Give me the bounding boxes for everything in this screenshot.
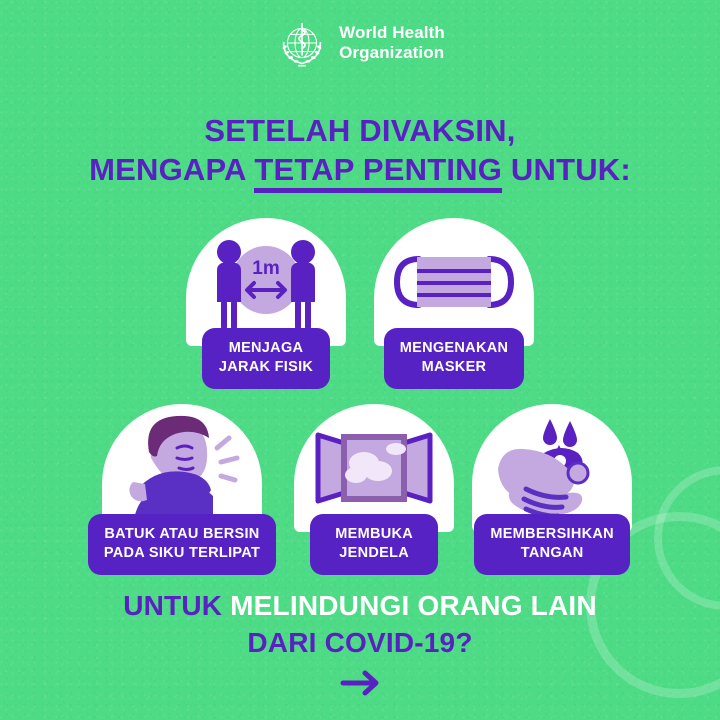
card-label: MENGENAKAN MASKER xyxy=(384,328,525,389)
footer-line-1: UNTUK MELINDUNGI ORANG LAIN xyxy=(0,588,720,625)
icon-dome xyxy=(102,404,262,532)
headline-line-2-after: UNTUK: xyxy=(502,152,631,187)
footer-line-1-white: MELINDUNGI ORANG LAIN xyxy=(230,590,597,621)
headline-line-2: MENGAPA TETAP PENTING UNTUK: xyxy=(0,151,720,190)
icon-dome xyxy=(472,404,632,532)
headline-line-1: SETELAH DIVAKSIN, xyxy=(0,112,720,151)
card-physical-distancing[interactable]: 1m MENJAGA JARAK FISIK xyxy=(186,218,346,389)
open-window-icon xyxy=(304,413,444,523)
headline-line-2-before: MENGAPA xyxy=(89,152,254,187)
headline-underlined-phrase: TETAP PENTING xyxy=(254,152,502,193)
icon-dome xyxy=(294,404,454,532)
card-wash-hands[interactable]: MEMBERSIHKAN TANGAN xyxy=(472,404,632,575)
who-emblem-icon xyxy=(275,16,329,70)
footer-line-1-purple: UNTUK xyxy=(123,590,230,621)
physical-distancing-icon: 1m xyxy=(191,222,341,342)
card-label: BATUK ATAU BERSIN PADA SIKU TERLIPAT xyxy=(88,514,276,575)
footer-line-2: DARI COVID-19? xyxy=(0,625,720,662)
cough-into-elbow-icon xyxy=(107,408,257,528)
wash-hands-icon xyxy=(482,411,622,526)
card-open-window[interactable]: MEMBUKA JENDELA xyxy=(294,404,454,575)
face-mask-icon xyxy=(379,227,529,337)
card-label: MENJAGA JARAK FISIK xyxy=(202,328,330,389)
page-title: SETELAH DIVAKSIN, MENGAPA TETAP PENTING … xyxy=(0,112,720,190)
card-cough-into-elbow[interactable]: BATUK ATAU BERSIN PADA SIKU TERLIPAT xyxy=(88,404,276,575)
who-logo: World Health Organization xyxy=(0,16,720,70)
icon-row-2: BATUK ATAU BERSIN PADA SIKU TERLIPAT xyxy=(0,404,720,575)
icon-dome: 1m xyxy=(186,218,346,346)
arrow-right-icon xyxy=(0,668,720,708)
card-label: MEMBUKA JENDELA xyxy=(310,514,438,575)
poster-canvas: World Health Organization SETELAH DIVAKS… xyxy=(0,0,720,720)
icon-dome xyxy=(374,218,534,346)
who-wordmark: World Health Organization xyxy=(339,23,445,63)
icon-row-1: 1m MENJAGA JARAK FISIK xyxy=(0,218,720,389)
svg-text:1m: 1m xyxy=(252,258,279,279)
card-wear-mask[interactable]: MENGENAKAN MASKER xyxy=(374,218,534,389)
footer-message: UNTUK MELINDUNGI ORANG LAIN DARI COVID-1… xyxy=(0,588,720,708)
card-label: MEMBERSIHKAN TANGAN xyxy=(474,514,630,575)
